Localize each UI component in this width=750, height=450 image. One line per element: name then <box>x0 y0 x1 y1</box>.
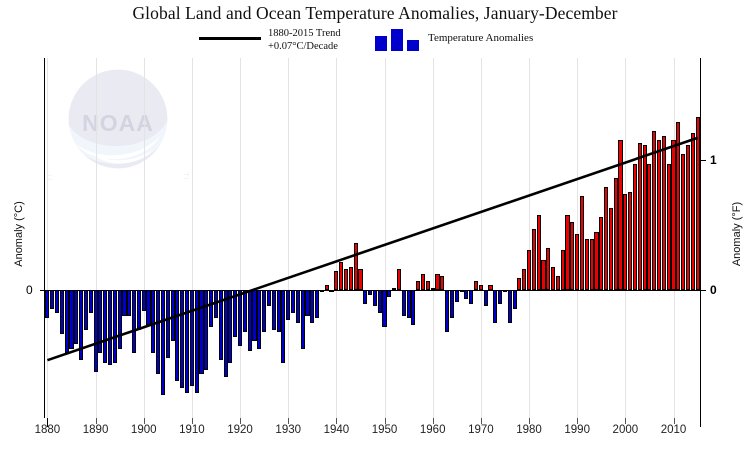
x-tick-label-1960: 1960 <box>410 424 456 436</box>
y-axis-left-title: Anomaly (°C) <box>13 189 25 279</box>
plot-area <box>45 58 700 418</box>
page-title: Global Land and Ocean Temperature Anomal… <box>0 3 750 24</box>
x-tick-label-1990: 1990 <box>554 424 600 436</box>
legend-bar-swatch-2 <box>391 29 403 51</box>
legend-trend-label: 1880-2015 Trend +0.07°C/Decade <box>268 28 448 53</box>
legend-bar-swatch-3 <box>407 40 419 51</box>
x-tick-label-1970: 1970 <box>458 424 504 436</box>
x-tick-label-1950: 1950 <box>362 424 408 436</box>
x-tick-label-1930: 1930 <box>265 424 311 436</box>
x-tick-label-1980: 1980 <box>506 424 552 436</box>
y-axis-left-tick-label: 0 <box>26 283 33 297</box>
x-tick-label-1940: 1940 <box>313 424 359 436</box>
y-tick-label-right-1: 1 <box>710 153 717 167</box>
chart-legend: 1880-2015 Trend +0.07°C/Decade Temperatu… <box>0 28 750 54</box>
x-tick-label-1910: 1910 <box>169 424 215 436</box>
y-tick-mark-right-1 <box>700 160 706 161</box>
legend-trend-label-line2: +0.07°C/Decade <box>268 41 448 54</box>
y-axis-right-title: Anomaly (°F) <box>731 189 743 279</box>
y-tick-label-right-0: 0 <box>710 283 717 297</box>
x-tick-label-1890: 1890 <box>73 424 119 436</box>
legend-trend-label-line1: 1880-2015 Trend <box>268 28 448 41</box>
climate-anomaly-chart: Global Land and Ocean Temperature Anomal… <box>0 0 750 450</box>
y-tick-mark-right-0 <box>700 290 706 291</box>
x-tick-mark-end <box>700 418 701 427</box>
y-axis-left-tick-mark <box>40 290 46 291</box>
x-tick-label-2000: 2000 <box>602 424 648 436</box>
x-tick-label-1880: 1880 <box>24 424 70 436</box>
x-tick-label-1920: 1920 <box>217 424 263 436</box>
x-tick-label-2010: 2010 <box>651 424 697 436</box>
legend-bars-label: Temperature Anomalies <box>428 32 533 44</box>
axis-right-spine <box>700 58 701 418</box>
x-tick-label-1900: 1900 <box>121 424 167 436</box>
legend-trend-line-swatch <box>199 37 261 40</box>
legend-bars-swatch <box>375 29 421 51</box>
legend-bar-swatch-1 <box>375 36 387 51</box>
trend-line <box>45 58 700 418</box>
